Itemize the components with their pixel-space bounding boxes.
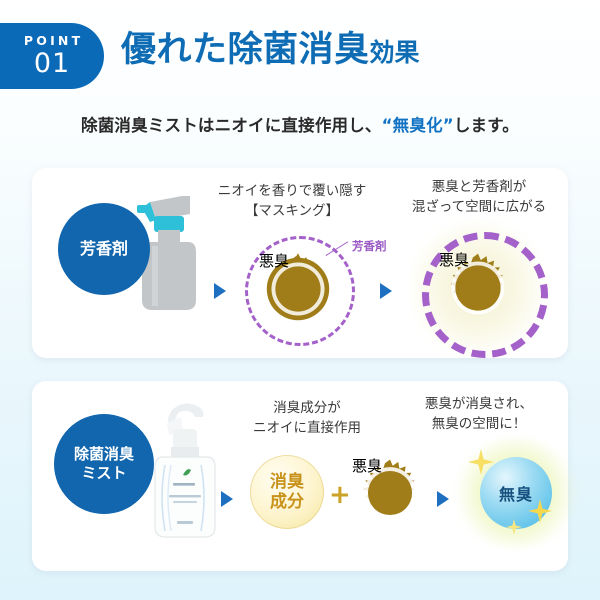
callout-fragrance-label: 芳香剤	[352, 238, 387, 254]
badge-deodorizing-ingredient: 消臭 成分	[250, 455, 324, 529]
lead-text-after: します。	[454, 116, 519, 135]
badge-odorless-result-group: 無臭	[454, 437, 578, 549]
page-title: 優れた除菌消臭効果	[121, 29, 420, 73]
caption-masking: ニオイを香りで覆い隠す 【マスキング】	[192, 182, 392, 221]
card-deodorizing-mist: 除菌消臭 ミスト 消臭成分が ニオイに直接作用 悪臭が消臭され、	[32, 381, 568, 571]
point-badge: POINT 01	[0, 23, 104, 89]
tag-air-freshener-label: 芳香剤	[80, 239, 128, 259]
caption-spread-line2: 混ざって空間に広がる	[384, 198, 574, 218]
caption-spread-line1: 悪臭と芳香剤が	[384, 178, 574, 198]
caption-odorless-line2: 無臭の空間に！	[384, 415, 574, 435]
infographic-canvas: POINT 01 優れた除菌消臭効果 除菌消臭ミストはニオイに直接作用し、“無臭…	[0, 0, 600, 600]
arrow-right-icon-4	[437, 491, 449, 507]
point-badge-word: POINT	[21, 35, 84, 48]
badge-bad-odor-group: 悪臭	[352, 455, 428, 531]
tag-air-freshener: 芳香剤	[58, 203, 150, 295]
lead-text-before: 除菌消臭ミストはニオイに直接作用し、	[81, 116, 382, 135]
arrow-right-icon-3	[221, 491, 233, 507]
arrow-right-icon-2	[380, 283, 392, 299]
seal-bad-odor-1-label: 悪臭	[259, 250, 337, 328]
caption-spread: 悪臭と芳香剤が 混ざって空間に広がる	[384, 178, 574, 217]
sparkle-icon-3	[506, 519, 522, 535]
caption-direct-line1: 消臭成分が	[207, 399, 407, 419]
caption-direct-action: 消臭成分が ニオイに直接作用	[207, 399, 407, 438]
caption-direct-line2: ニオイに直接作用	[207, 419, 407, 439]
sparkle-icon-2	[528, 499, 552, 523]
seal-bad-odor-3-label: 悪臭	[352, 455, 428, 531]
caption-odorless-line1: 悪臭が消臭され、	[384, 395, 574, 415]
page-title-main: 優れた除菌消臭	[121, 30, 370, 70]
arrow-right-icon-1	[214, 283, 226, 299]
caption-masking-line1: ニオイを香りで覆い隠す	[192, 182, 392, 202]
sparkle-icon-1	[468, 449, 494, 475]
badge-masking-group: 悪臭 芳香剤	[242, 233, 372, 345]
ingredient-label-line1: 消臭	[270, 472, 304, 492]
caption-masking-line2: 【マスキング】	[192, 202, 392, 222]
lead-sentence: 除菌消臭ミストはニオイに直接作用し、“無臭化”します。	[0, 112, 600, 136]
plus-sign: +	[329, 482, 351, 508]
card-air-freshener: 芳香剤 ニオイを香りで覆い隠す 【マスキング】 悪臭と芳香剤が 混ざって空間に広…	[32, 168, 568, 358]
lead-highlight: “無臭化”	[382, 116, 454, 135]
seal-bad-odor-2-label: 悪臭	[439, 249, 517, 327]
caption-odorless: 悪臭が消臭され、 無臭の空間に！	[384, 395, 574, 434]
ingredient-label-line2: 成分	[270, 492, 304, 512]
badge-spread-group: 悪臭	[418, 228, 540, 350]
tag-mist-label-line2: ミスト	[74, 464, 134, 483]
tag-deodorizing-mist: 除菌消臭 ミスト	[54, 414, 154, 514]
point-badge-number: 01	[34, 50, 70, 77]
tag-mist-label-line1: 除菌消臭	[74, 445, 134, 464]
page-title-suffix: 効果	[370, 38, 420, 67]
